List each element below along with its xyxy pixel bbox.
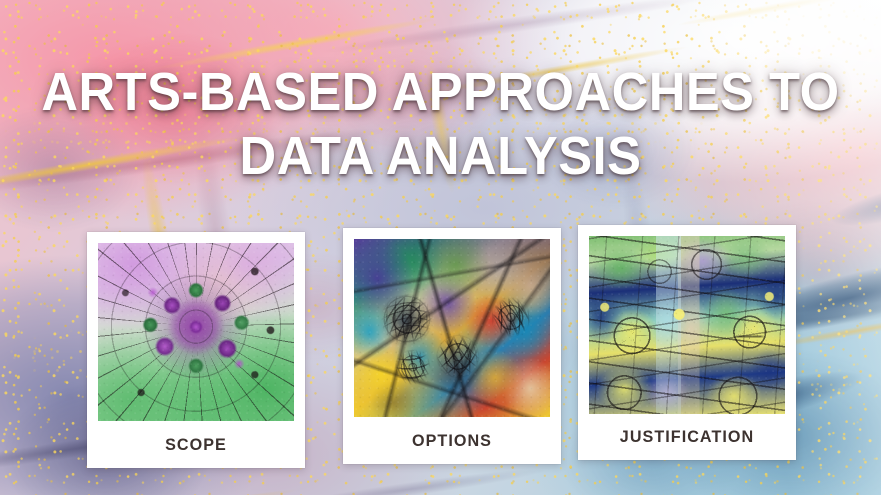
card-justification[interactable]: JUSTIFICATION	[578, 225, 796, 460]
card-scope-photo	[98, 243, 294, 421]
card-options[interactable]: OPTIONS	[343, 228, 561, 464]
card-scope-caption: SCOPE	[92, 421, 299, 468]
card-options-caption: OPTIONS	[348, 417, 555, 464]
artwork-grain-overlay	[354, 239, 550, 417]
artwork-grain-overlay	[98, 243, 294, 421]
presentation-slide: ARTS-BASED APPROACHES TO DATA ANALYSIS S…	[0, 0, 881, 495]
card-justification-photo	[589, 236, 785, 414]
artwork-grain-overlay	[589, 236, 785, 414]
card-options-photo	[354, 239, 550, 417]
slide-title: ARTS-BASED APPROACHES TO DATA ANALYSIS	[0, 60, 881, 188]
card-justification-caption: JUSTIFICATION	[583, 414, 790, 460]
card-scope[interactable]: SCOPE	[87, 232, 305, 468]
title-line-1: ARTS-BASED APPROACHES TO	[26, 60, 854, 124]
title-line-2: DATA ANALYSIS	[26, 124, 854, 188]
